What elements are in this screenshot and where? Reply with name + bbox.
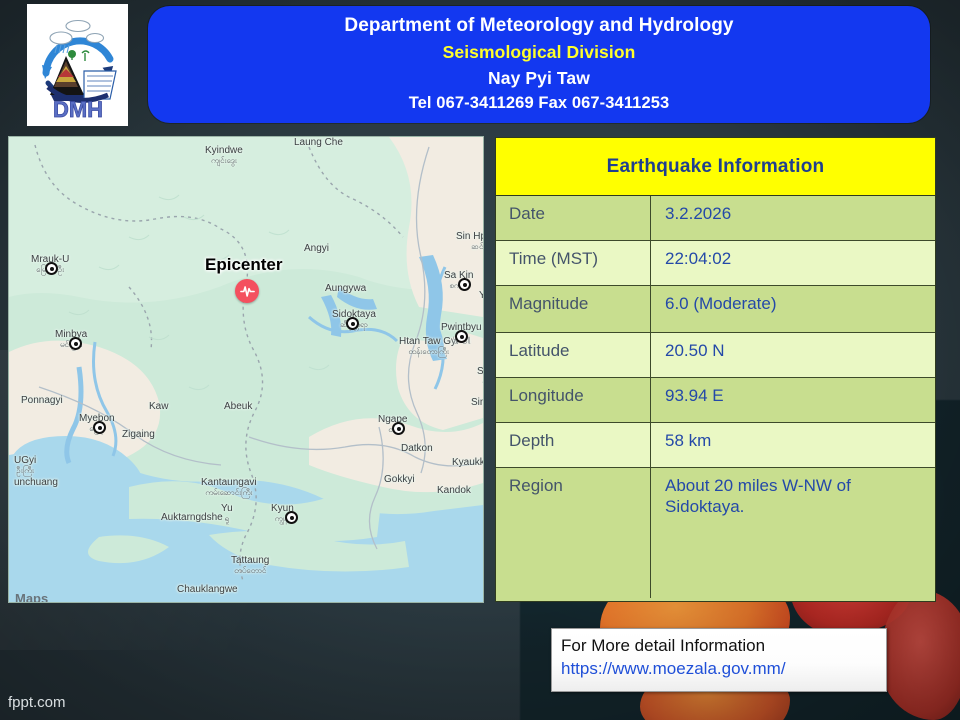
table-row: Depth 58 km (496, 423, 935, 468)
table-row: Time (MST)22:04:02 (496, 241, 935, 286)
table-row-label: Date (496, 196, 651, 240)
table-row-label: Longitude (496, 378, 651, 422)
water-cycle-icon: DMH (32, 9, 124, 121)
header-contact-line: Tel 067-3411269 Fax 067-3411253 (409, 95, 670, 113)
slide-background: DMH Department of Meteorology and Hydrol… (0, 0, 960, 720)
earthquake-information-table: Earthquake Information Date3.2.2026Time … (495, 137, 936, 602)
moezala-website-link[interactable]: https://www.moezala.gov.mm/ (561, 658, 886, 681)
table-row-label: Time (MST) (496, 241, 651, 285)
table-row: RegionAbout 20 miles W-NW of Sidoktaya. (496, 468, 935, 598)
epicenter-marker-icon[interactable] (235, 279, 259, 303)
table-row: Latitude20.50 N (496, 333, 935, 378)
table-row: Longitude93.94 E (496, 378, 935, 423)
table-row-label: Depth (496, 423, 651, 467)
map-town-marker-icon[interactable] (285, 511, 298, 524)
table-row-value: 22:04:02 (651, 241, 935, 285)
fppt-watermark: fppt.com (8, 694, 66, 711)
more-info-box[interactable]: For More detail Information https://www.… (551, 628, 887, 692)
table-row: Magnitude6.0 (Moderate) (496, 286, 935, 333)
epicenter-map[interactable]: Epicenter Kyindweကျင်းဒွေးLaung CheAngyi… (9, 137, 483, 602)
epicenter-label: Epicenter (205, 255, 282, 275)
header-banner: Department of Meteorology and Hydrology … (148, 6, 930, 123)
seismograph-wave-icon (240, 284, 255, 299)
header-city-line: Nay Pyi Taw (488, 69, 590, 88)
more-info-label: For More detail Information (561, 635, 886, 658)
map-attribution: Maps (15, 591, 48, 602)
table-row-value: 20.50 N (651, 333, 935, 377)
table-row-value: 58 km (651, 423, 935, 467)
map-town-marker-icon[interactable] (392, 422, 405, 435)
map-town-marker-icon[interactable] (346, 317, 359, 330)
table-row-value: About 20 miles W-NW of Sidoktaya. (651, 468, 935, 598)
map-town-marker-icon[interactable] (458, 278, 471, 291)
svg-text:DMH: DMH (52, 97, 102, 121)
table-body: Date3.2.2026Time (MST)22:04:02Magnitude6… (496, 196, 935, 598)
table-row-value: 3.2.2026 (651, 196, 935, 240)
map-town-marker-icon[interactable] (45, 262, 58, 275)
table-row-value: 93.94 E (651, 378, 935, 422)
map-town-marker-icon[interactable] (69, 337, 82, 350)
table-title-text: Earthquake Information (607, 156, 825, 178)
table-row-label: Region (496, 468, 651, 598)
table-title: Earthquake Information (496, 138, 935, 196)
map-town-marker-icon[interactable] (93, 421, 106, 434)
map-graphic (9, 137, 483, 602)
table-row-label: Latitude (496, 333, 651, 377)
header-division-line: Seismological Division (443, 43, 636, 62)
map-town-marker-icon[interactable] (455, 330, 468, 343)
table-row-value: 6.0 (Moderate) (651, 286, 935, 332)
table-row: Date3.2.2026 (496, 196, 935, 241)
table-row-label: Magnitude (496, 286, 651, 332)
dmh-logo: DMH (27, 4, 128, 126)
header-department-line: Department of Meteorology and Hydrology (344, 16, 733, 37)
